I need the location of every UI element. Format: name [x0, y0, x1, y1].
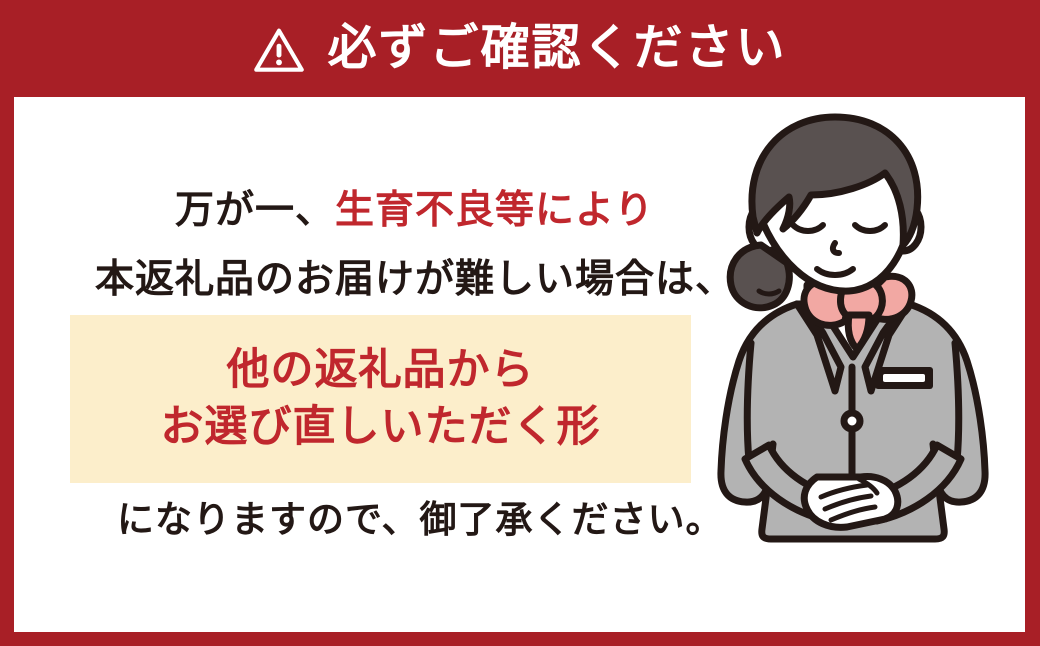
highlight-line-1: 他の返礼品から: [227, 349, 535, 392]
notice-banner: 必ずご確認ください 万が一、生育不良等により 本返礼品のお届けが難しい場合は、 …: [0, 0, 1040, 646]
warning-triangle-icon: [253, 25, 305, 77]
notice-closing-line: になりますので、御了承ください。: [117, 501, 724, 538]
bowing-staff-woman-illustration: [689, 99, 1019, 569]
banner-header: 必ずご確認ください: [0, 0, 1040, 97]
highlight-line-2: お選び直しいただく形: [161, 406, 601, 449]
notice-line-2: 本返礼品のお届けが難しい場合は、: [95, 260, 735, 299]
page-title: 必ずご確認ください: [327, 24, 786, 73]
frame-border-bottom: [0, 632, 1040, 646]
frame-border-left: [0, 97, 14, 646]
banner-content: 万が一、生育不良等により 本返礼品のお届けが難しい場合は、 他の返礼品から お選…: [14, 97, 1025, 632]
highlight-box: 他の返礼品から お選び直しいただく形: [70, 315, 691, 483]
notice-line-1: 万が一、生育不良等により: [175, 191, 654, 230]
notice-line-1-accent: 生育不良等により: [335, 189, 654, 232]
notice-text-block: 万が一、生育不良等により 本返礼品のお届けが難しい場合は、 他の返礼品から お選…: [14, 97, 714, 632]
frame-border-right: [1025, 97, 1040, 646]
notice-line-1-plain: 万が一、: [175, 189, 335, 232]
